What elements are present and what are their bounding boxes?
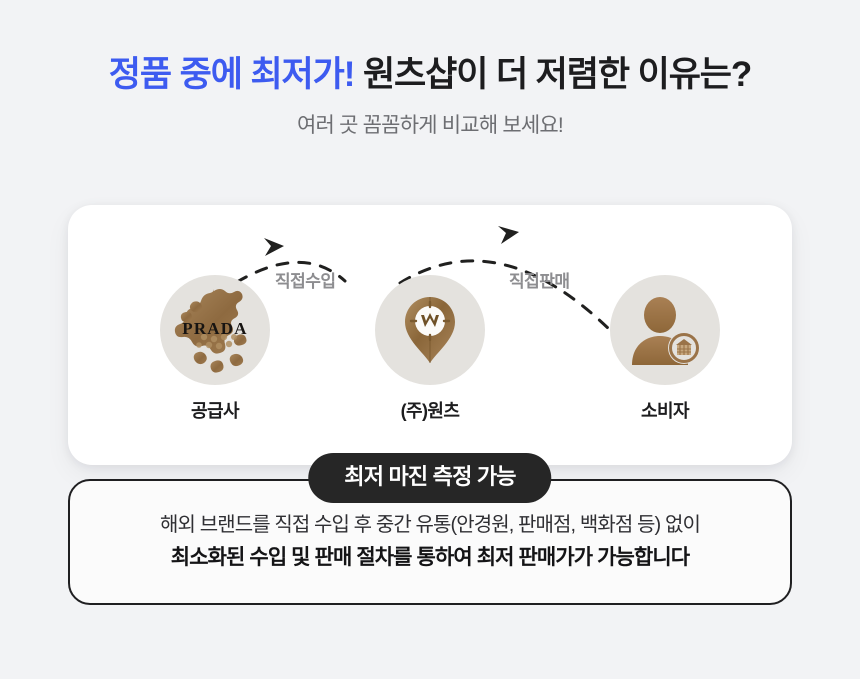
flow-nodes: PRADA 공급사 (68, 205, 792, 465)
supply-chain-card: 직접수입 직접판매 (68, 205, 792, 465)
explanation-line-2: 최소화된 수입 및 판매 절차를 통하여 최저 판매가가 가능합니다 (171, 545, 689, 571)
flow-node-supplier: PRADA 공급사 (135, 275, 295, 423)
flow-node-wonts: (주)원츠 (350, 275, 510, 423)
flow-node-label-consumer: 소비자 (585, 397, 745, 423)
page-title: 정품 중에 최저가! 원츠샵이 더 저렴한 이유는? (0, 54, 860, 96)
pin-inner-circle (415, 306, 445, 336)
promo-page: 정품 중에 최저가! 원츠샵이 더 저렴한 이유는? 여러 곳 꼼꼼하게 비교해… (0, 0, 860, 679)
explanation-line-1: 해외 브랜드를 직접 수입 후 중간 유통(안경원, 판매점, 백화점 등) 없… (160, 513, 700, 538)
europe-map-icon (160, 275, 270, 385)
supplier-circle: PRADA (160, 275, 270, 385)
wonts-pin-logo-icon (375, 275, 485, 385)
headline-plain-text: 원츠샵이 더 저렴한 이유는? (363, 55, 751, 94)
header: 정품 중에 최저가! 원츠샵이 더 저렴한 이유는? 여러 곳 꼼꼼하게 비교해… (0, 54, 860, 138)
wonts-circle (375, 275, 485, 385)
person-head (644, 297, 676, 333)
consumer-circle (610, 275, 720, 385)
status-badge: 최저 마진 측정 가능 (308, 453, 551, 503)
flow-node-label-supplier: 공급사 (135, 397, 295, 423)
consumer-person-icon (610, 275, 720, 385)
flow-node-label-wonts: (주)원츠 (350, 397, 510, 423)
headline-accent-text: 정품 중에 최저가! (109, 55, 355, 94)
page-subtitle: 여러 곳 꼼꼼하게 비교해 보세요! (0, 113, 860, 138)
flow-node-consumer: 소비자 (585, 275, 745, 423)
